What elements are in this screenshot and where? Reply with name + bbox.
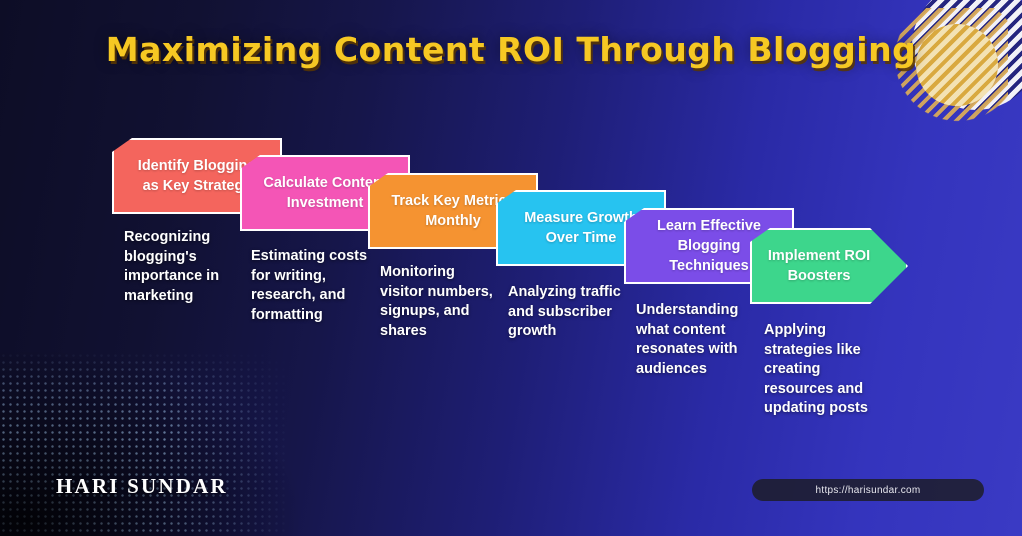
brand-wordmark: HARI SUNDAR xyxy=(56,474,228,499)
step-4-description: Analyzing traffic and subscriber growth xyxy=(508,283,626,342)
step-6-banner[interactable]: Implement ROI Boosters xyxy=(750,228,908,304)
step-1-description: Recognizing blogging's importance in mar… xyxy=(124,228,242,306)
website-url-text: https://harisundar.com xyxy=(816,485,921,496)
website-url-badge[interactable]: https://harisundar.com xyxy=(752,479,984,501)
step-5-description: Understanding what content resonates wit… xyxy=(636,301,758,379)
step-6-description: Applying strategies like creating resour… xyxy=(764,321,884,419)
infographic-canvas: Maximizing Content ROI Through Blogging … xyxy=(0,0,1022,536)
dots-vignette-decoration xyxy=(0,352,300,536)
page-title: Maximizing Content ROI Through Blogging xyxy=(0,30,1022,69)
step-3-description: Monitoring visitor numbers, signups, and… xyxy=(380,263,498,341)
step-6-banner-label: Implement ROI Boosters xyxy=(766,246,872,286)
step-2-description: Estimating costs for writing, research, … xyxy=(251,247,369,325)
